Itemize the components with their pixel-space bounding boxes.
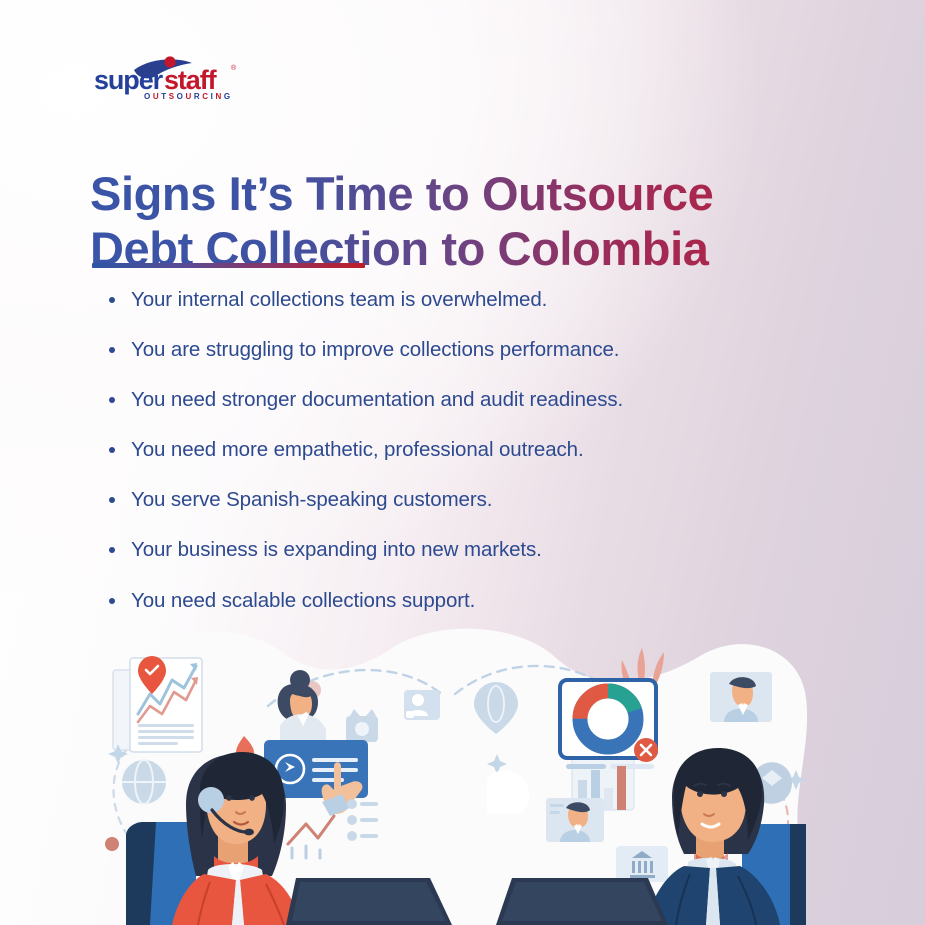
superstaff-logo-svg: super staff ® OUTSOURCING (92, 56, 272, 102)
portrait-card-icon (710, 672, 772, 722)
page-title-line-1: Signs It’s Time to Outsource (90, 167, 790, 222)
list-item-label: You are struggling to improve collection… (131, 338, 619, 361)
list-item: You need more empathetic, professional o… (104, 438, 804, 463)
title-divider (92, 263, 365, 268)
accent-dot (105, 837, 119, 851)
checklist-icon (347, 799, 378, 841)
list-item: You serve Spanish-speaking customers. (104, 488, 804, 513)
list-item-label: You need more empathetic, professional o… (131, 438, 584, 461)
laptop-icon (496, 878, 668, 925)
bullet-dot-icon (109, 297, 115, 303)
bullet-dot-icon (109, 447, 115, 453)
list-item-label: You need stronger documentation and audi… (131, 388, 623, 411)
bullet-dot-icon (109, 598, 115, 604)
page-title: Signs It’s Time to Outsource Debt Collec… (90, 167, 790, 277)
svg-text:staff: staff (164, 65, 218, 95)
list-item: Your internal collections team is overwh… (104, 288, 804, 313)
list-item: You need scalable collections support. (104, 589, 804, 614)
bullet-dot-icon (109, 397, 115, 403)
bullet-dot-icon (109, 497, 115, 503)
superstaff-logo[interactable]: super staff ® OUTSOURCING (92, 56, 272, 102)
page-title-line-2: Debt Collection to Colombia (90, 222, 790, 277)
bullet-dot-icon (109, 547, 115, 553)
report-document-icon (113, 656, 202, 752)
user-profile-icon (404, 690, 440, 720)
list-item-label: You serve Spanish-speaking customers. (131, 488, 492, 511)
list-item-label: You need scalable collections support. (131, 589, 475, 612)
svg-text:super: super (94, 65, 164, 95)
list-item-label: Your internal collections team is overwh… (131, 288, 547, 311)
svg-text:®: ® (231, 64, 237, 72)
signs-list: Your internal collections team is overwh… (104, 288, 804, 639)
portrait-card-icon (546, 798, 604, 842)
globe-icon (122, 760, 166, 804)
list-item-label: Your business is expanding into new mark… (131, 538, 542, 561)
donut-chart-icon (580, 691, 636, 747)
bullet-dot-icon (109, 347, 115, 353)
svg-text:OUTSOURCING: OUTSOURCING (144, 92, 233, 101)
red-x-badge-icon (634, 738, 658, 762)
list-item: You need stronger documentation and audi… (104, 388, 804, 413)
list-item: Your business is expanding into new mark… (104, 538, 804, 563)
laptop-icon (286, 878, 452, 925)
list-item: You are struggling to improve collection… (104, 338, 804, 363)
callcenter-illustration (0, 618, 925, 925)
poster-canvas: super staff ® OUTSOURCING Signs It’s Tim… (0, 0, 925, 925)
callcenter-illustration-svg (0, 618, 925, 925)
